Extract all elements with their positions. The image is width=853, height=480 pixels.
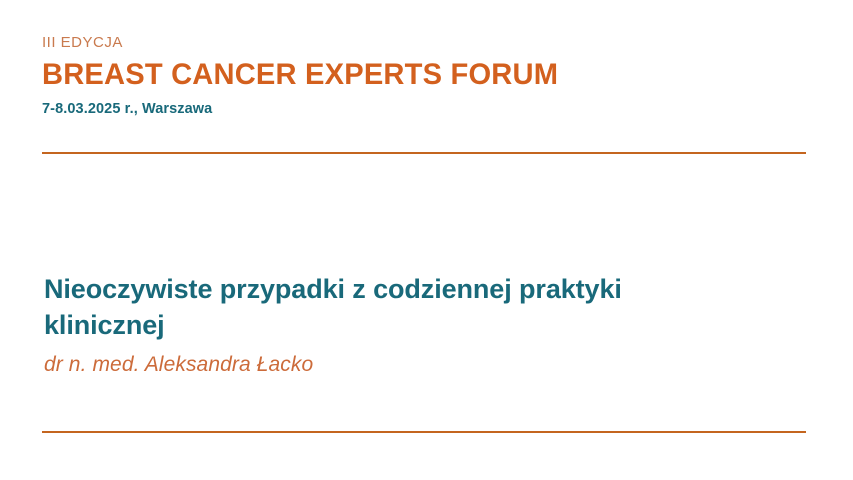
speaker-name: dr n. med. Aleksandra Łacko [44,352,804,378]
lecture-block: Nieoczywiste przypadki z codziennej prak… [44,272,804,378]
presentation-slide: III EDYCJA BREAST CANCER EXPERTS FORUM 7… [0,0,853,480]
forum-title: BREAST CANCER EXPERTS FORUM [42,58,789,92]
divider-bottom [42,431,806,433]
edition-label: III EDYCJA [42,34,812,52]
lecture-title: Nieoczywiste przypadki z codziennej prak… [44,272,644,344]
event-date-location: 7-8.03.2025 r., Warszawa [42,101,812,118]
brand-header: III EDYCJA BREAST CANCER EXPERTS FORUM 7… [42,34,812,118]
divider-top [42,152,806,154]
